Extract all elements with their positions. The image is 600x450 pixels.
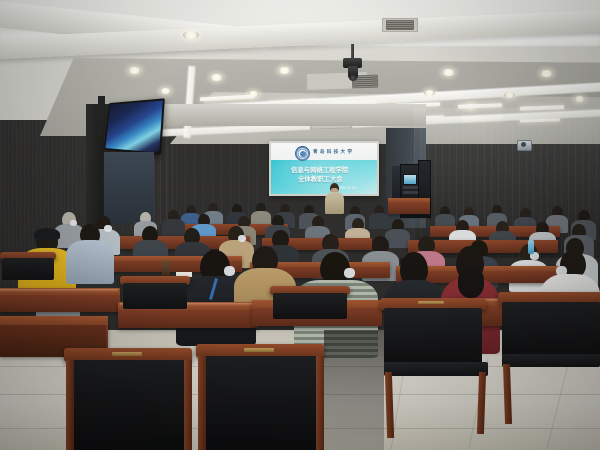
lecture-hall-photo: 青 岛 科 技 大 学 信息与网络工程学院 全体教职工大会 2020.9.11 xyxy=(0,0,600,450)
downlight-icon xyxy=(160,88,171,94)
downlight-icon xyxy=(128,67,141,74)
chair-backrest xyxy=(123,283,187,309)
thermos-flask[interactable] xyxy=(162,260,170,276)
downlight-icon xyxy=(442,69,455,76)
chair-backrest xyxy=(384,308,482,364)
chair-leg xyxy=(316,356,324,450)
audience-body xyxy=(369,213,389,229)
wall-mounted-monitor[interactable] xyxy=(104,98,165,155)
chair-leg xyxy=(66,360,74,450)
face-mask xyxy=(104,225,112,232)
audience-cap xyxy=(34,228,60,240)
audience-body xyxy=(162,219,185,237)
chair-backrest xyxy=(502,302,600,356)
audience-hair-long xyxy=(458,268,484,298)
downlight-icon xyxy=(278,67,291,74)
wall-speaker-driver-icon xyxy=(521,142,526,147)
downlight-icon xyxy=(424,90,435,96)
av-rack-monitor xyxy=(403,174,417,185)
chair-back-nameplate xyxy=(244,348,274,352)
chair-back-nameplate xyxy=(418,301,444,304)
desk-top-highlight xyxy=(0,289,118,292)
screen-glare xyxy=(271,143,377,194)
desk-top-surface xyxy=(0,316,108,325)
projection-screen: 青 岛 科 技 大 学 信息与网络工程学院 全体教职工大会 2020.9.11 xyxy=(271,143,377,194)
chair-backrest xyxy=(202,356,318,450)
downlight-icon xyxy=(540,70,553,77)
face-mask xyxy=(344,268,355,278)
projector-lens-icon xyxy=(349,75,357,81)
downlight-icon xyxy=(210,74,223,81)
face-mask xyxy=(224,266,235,276)
aisle-shadow xyxy=(324,330,384,450)
chair-seat xyxy=(384,362,488,376)
monitor-screen xyxy=(105,101,162,153)
water-bottle[interactable] xyxy=(528,240,534,254)
monitor-mount-arm xyxy=(98,96,105,136)
downlight-icon xyxy=(504,92,515,98)
chair-backrest xyxy=(2,258,54,280)
chair-backrest xyxy=(273,293,347,319)
chair-leg xyxy=(198,356,206,450)
downlight-icon xyxy=(574,96,585,102)
presenter-body xyxy=(325,192,344,214)
face-mask xyxy=(238,235,246,242)
face-mask xyxy=(70,220,77,226)
chair-back-nameplate xyxy=(112,352,142,356)
ceiling-air-vent-louvre xyxy=(386,20,414,30)
face-mask xyxy=(556,266,567,276)
downlight-icon xyxy=(183,31,199,39)
audience-body xyxy=(66,240,114,284)
chair-backrest xyxy=(70,360,186,450)
chair-leg xyxy=(184,360,192,450)
podium-desk-top xyxy=(388,198,430,202)
chair-seat xyxy=(502,354,600,367)
